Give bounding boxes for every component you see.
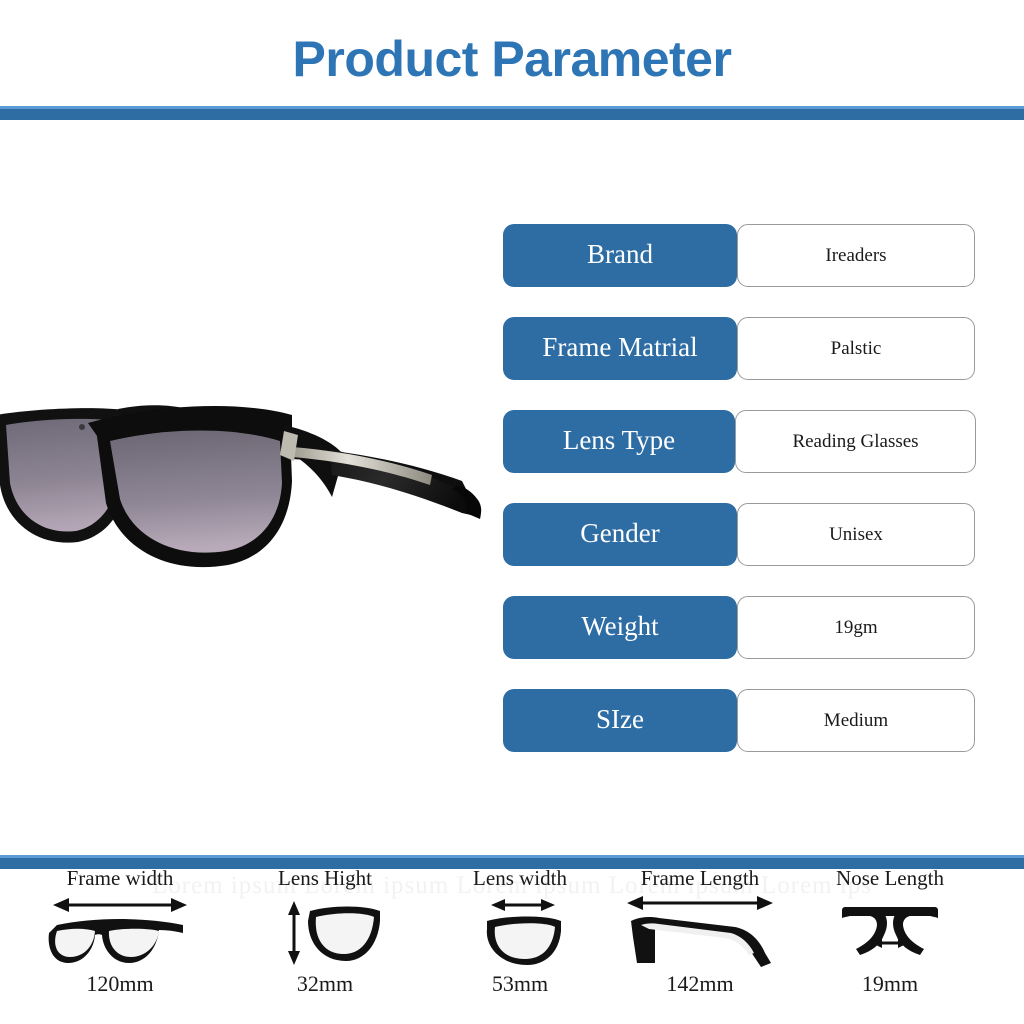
spec-label-frame-matrial: Frame Matrial bbox=[503, 317, 737, 380]
measure-label: Frame Length bbox=[600, 868, 800, 889]
header-divider bbox=[0, 106, 1024, 120]
spec-value-gender: Unisex bbox=[737, 503, 975, 566]
header-divider-bar bbox=[0, 109, 1024, 120]
spec-value-frame-matrial: Palstic bbox=[737, 317, 975, 380]
measure-value: 53mm bbox=[420, 973, 620, 995]
measure-value: 32mm bbox=[225, 973, 425, 995]
measurement-strip: Frame width 120mm Lens Hight bbox=[0, 868, 1024, 1024]
measure-value: 142mm bbox=[600, 973, 800, 995]
full-glasses-front-icon bbox=[20, 893, 220, 971]
measure-label: Nose Length bbox=[790, 868, 990, 889]
product-parameter-infographic: Product Parameter bbox=[0, 0, 1024, 1024]
table-row: Weight 19gm bbox=[503, 596, 978, 659]
glasses-temple-side-icon bbox=[600, 893, 800, 971]
table-row: Lens Type Reading Glasses bbox=[503, 410, 978, 473]
measure-value: 19mm bbox=[790, 973, 990, 995]
measure-label: Lens width bbox=[420, 868, 620, 889]
single-lens-icon bbox=[420, 893, 620, 971]
measure-value: 120mm bbox=[20, 973, 220, 995]
spec-value-lens-type: Reading Glasses bbox=[735, 410, 976, 473]
spec-label-gender: Gender bbox=[503, 503, 737, 566]
nose-bridge-icon bbox=[790, 893, 990, 971]
measure-item-lens-width: Lens width 53mm bbox=[420, 868, 620, 995]
measure-item-frame-width: Frame width 120mm bbox=[20, 868, 220, 995]
measure-item-frame-length: Frame Length 142mm bbox=[600, 868, 800, 995]
product-photo bbox=[0, 385, 492, 595]
measure-item-lens-hight: Lens Hight 32mm bbox=[225, 868, 425, 995]
measure-item-nose-length: Nose Length 19mm bbox=[790, 868, 990, 995]
glasses-photo-icon bbox=[0, 385, 492, 595]
spec-label-lens-type: Lens Type bbox=[503, 410, 735, 473]
table-row: SIze Medium bbox=[503, 689, 978, 752]
spec-table: Brand Ireaders Frame Matrial Palstic Len… bbox=[503, 224, 978, 782]
table-row: Brand Ireaders bbox=[503, 224, 978, 287]
table-row: Gender Unisex bbox=[503, 503, 978, 566]
spec-value-brand: Ireaders bbox=[737, 224, 975, 287]
measure-label: Frame width bbox=[20, 868, 220, 889]
single-lens-icon bbox=[225, 893, 425, 971]
spec-label-brand: Brand bbox=[503, 224, 737, 287]
page-title: Product Parameter bbox=[0, 34, 1024, 84]
spec-label-weight: Weight bbox=[503, 596, 737, 659]
spec-value-weight: 19gm bbox=[737, 596, 975, 659]
rivet bbox=[79, 424, 85, 430]
spec-label-size: SIze bbox=[503, 689, 737, 752]
table-row: Frame Matrial Palstic bbox=[503, 317, 978, 380]
spec-value-size: Medium bbox=[737, 689, 975, 752]
measure-label: Lens Hight bbox=[225, 868, 425, 889]
